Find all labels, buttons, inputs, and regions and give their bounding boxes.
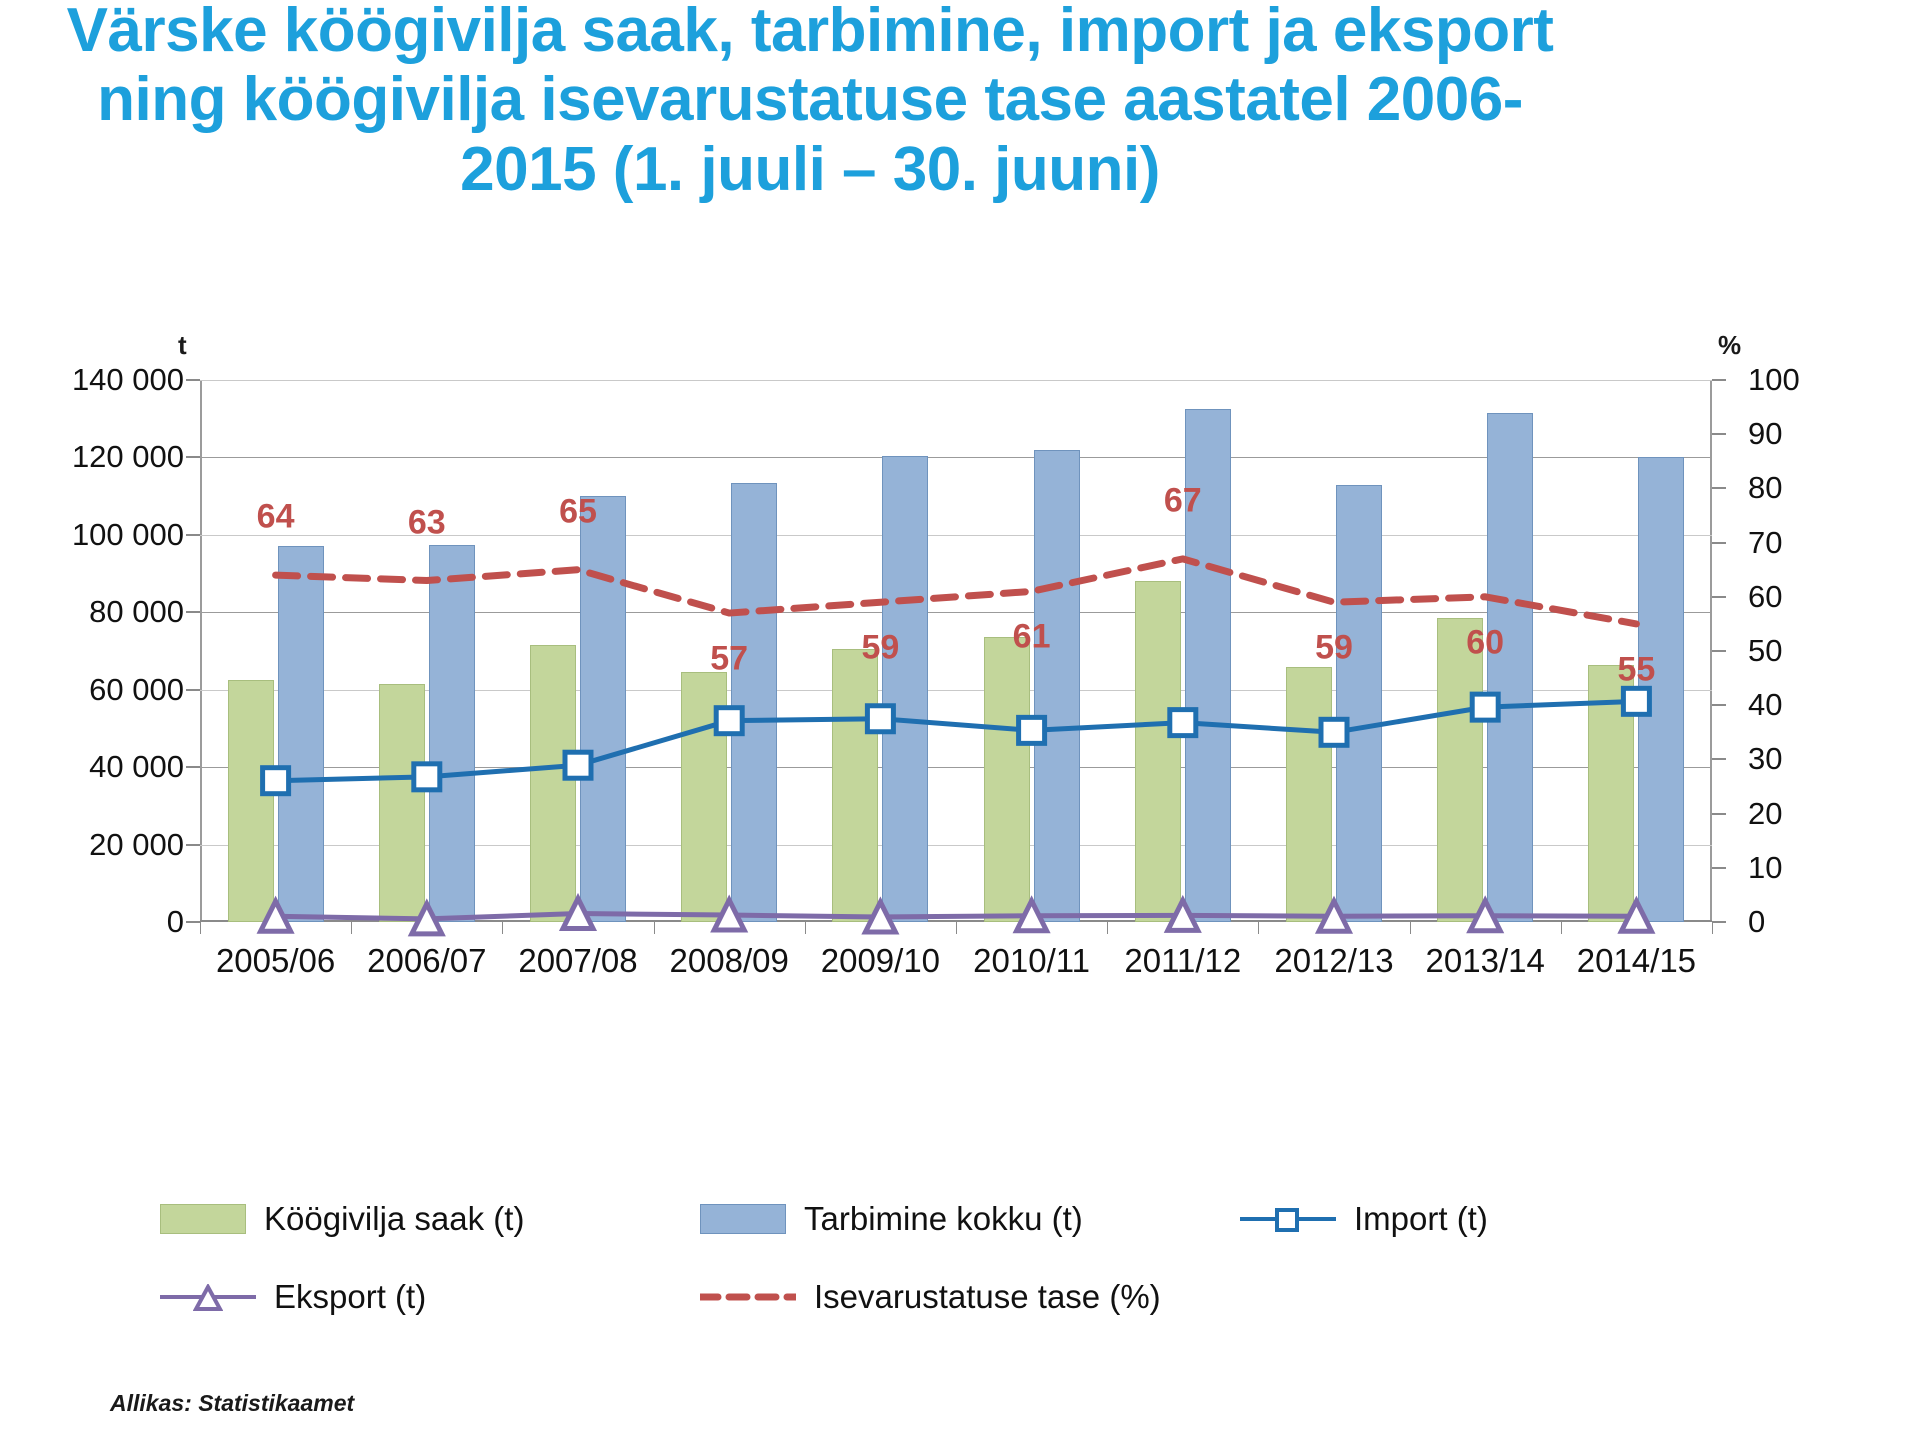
x-axis-label: 2005/06 xyxy=(216,942,335,980)
legend-line-key-isevarustatus xyxy=(700,1282,796,1312)
y-tick-mark-left xyxy=(186,844,200,846)
data-label-isevarustatuse-tase: 61 xyxy=(1013,618,1051,657)
y-tick-mark-left xyxy=(186,534,200,536)
y-tick-label-right: 80 xyxy=(1748,470,1782,506)
x-axis-label: 2011/12 xyxy=(1124,942,1241,980)
legend-item-eksport[interactable]: Eksport (t) xyxy=(160,1278,426,1316)
x-axis-label: 2014/15 xyxy=(1577,942,1696,980)
slide-root: Värske köögivilja saak, tarbimine, impor… xyxy=(0,0,1920,1450)
y-tick-label-right: 30 xyxy=(1748,741,1782,777)
plot-region: 64636557596167596055 xyxy=(200,380,1712,922)
legend-row: Eksport (t)Isevarustatuse tase (%) xyxy=(0,1278,1920,1338)
source-note: Allikas: Statistikaamet xyxy=(110,1390,354,1417)
y-tick-label-right: 40 xyxy=(1748,687,1782,723)
y-tick-mark-right xyxy=(1712,650,1726,652)
x-tick-mark xyxy=(805,922,806,934)
legend-swatch-tarbimine xyxy=(700,1204,786,1234)
x-tick-mark xyxy=(654,922,655,934)
y-tick-mark-right xyxy=(1712,921,1726,923)
line-isevarustatuse-tase[interactable] xyxy=(276,559,1637,624)
y-tick-label-left: 40 000 xyxy=(89,749,184,785)
legend-item-saak[interactable]: Köögivilja saak (t) xyxy=(160,1200,524,1238)
marker-import[interactable] xyxy=(716,708,742,734)
y-tick-label-right: 100 xyxy=(1748,362,1800,398)
x-tick-mark xyxy=(1561,922,1562,934)
marker-import[interactable] xyxy=(1623,688,1649,714)
legend-triangle-marker-icon xyxy=(193,1284,223,1312)
legend-item-tarbimine[interactable]: Tarbimine kokku (t) xyxy=(700,1200,1083,1238)
data-label-isevarustatuse-tase: 59 xyxy=(1315,629,1353,668)
legend-item-isevarustatus[interactable]: Isevarustatuse tase (%) xyxy=(700,1278,1161,1316)
y-tick-label-right: 0 xyxy=(1748,904,1765,940)
y-tick-label-left: 140 000 xyxy=(72,362,184,398)
legend-label: Tarbimine kokku (t) xyxy=(804,1200,1083,1238)
x-axis-label: 2006/07 xyxy=(367,942,486,980)
legend-item-import[interactable]: Import (t) xyxy=(1240,1200,1488,1238)
x-tick-mark xyxy=(1410,922,1411,934)
marker-import[interactable] xyxy=(1472,694,1498,720)
x-axis-label: 2012/13 xyxy=(1274,942,1393,980)
y-tick-label-right: 70 xyxy=(1748,525,1782,561)
data-label-isevarustatuse-tase: 64 xyxy=(257,498,295,537)
y-tick-mark-right xyxy=(1712,596,1726,598)
y-tick-label-right: 10 xyxy=(1748,850,1782,886)
y-tick-label-left: 100 000 xyxy=(72,517,184,553)
x-axis-label: 2010/11 xyxy=(973,942,1090,980)
y-tick-mark-left xyxy=(186,689,200,691)
legend-dashed-line-icon xyxy=(700,1282,796,1312)
marker-import[interactable] xyxy=(1019,717,1045,743)
y-tick-label-right: 20 xyxy=(1748,796,1782,832)
marker-import[interactable] xyxy=(1321,719,1347,745)
y-tick-mark-left xyxy=(186,611,200,613)
legend-label: Isevarustatuse tase (%) xyxy=(814,1278,1161,1316)
y-tick-mark-right xyxy=(1712,813,1726,815)
x-tick-mark xyxy=(200,922,201,934)
legend-label: Eksport (t) xyxy=(274,1278,426,1316)
x-axis-label: 2009/10 xyxy=(821,942,940,980)
y-tick-mark-left xyxy=(186,921,200,923)
y-tick-mark-right xyxy=(1712,704,1726,706)
y-axis-unit-left: t xyxy=(178,330,187,361)
legend-square-marker-icon xyxy=(1273,1206,1303,1234)
x-tick-mark xyxy=(956,922,957,934)
chart-area: t % 64636557596167596055 xyxy=(0,318,1920,1018)
y-tick-label-left: 0 xyxy=(167,904,184,940)
x-axis-label: 2013/14 xyxy=(1426,942,1545,980)
y-tick-label-left: 20 000 xyxy=(89,827,184,863)
data-label-isevarustatuse-tase: 59 xyxy=(861,629,899,668)
y-tick-mark-left xyxy=(186,456,200,458)
y-tick-mark-right xyxy=(1712,542,1726,544)
y-tick-label-right: 50 xyxy=(1748,633,1782,669)
y-tick-mark-left xyxy=(186,766,200,768)
marker-import[interactable] xyxy=(263,768,289,794)
y-tick-label-left: 60 000 xyxy=(89,672,184,708)
x-tick-mark xyxy=(1258,922,1259,934)
marker-import[interactable] xyxy=(867,706,893,732)
marker-import[interactable] xyxy=(565,752,591,778)
data-label-isevarustatuse-tase: 67 xyxy=(1164,481,1202,520)
y-tick-mark-right xyxy=(1712,758,1726,760)
legend-label: Import (t) xyxy=(1354,1200,1488,1238)
page-title: Värske köögivilja saak, tarbimine, impor… xyxy=(60,0,1560,204)
data-label-isevarustatuse-tase: 63 xyxy=(408,503,446,542)
y-tick-label-left: 80 000 xyxy=(89,594,184,630)
data-label-isevarustatuse-tase: 55 xyxy=(1617,650,1655,689)
x-tick-mark xyxy=(351,922,352,934)
x-tick-mark xyxy=(502,922,503,934)
y-tick-mark-right xyxy=(1712,487,1726,489)
data-label-isevarustatuse-tase: 65 xyxy=(559,492,597,531)
y-axis-unit-right: % xyxy=(1718,330,1741,361)
x-axis-label: 2008/09 xyxy=(670,942,789,980)
x-tick-mark xyxy=(1712,922,1713,934)
x-tick-mark xyxy=(1107,922,1108,934)
line-import[interactable] xyxy=(276,701,1637,780)
y-tick-label-left: 120 000 xyxy=(72,439,184,475)
data-label-isevarustatuse-tase: 57 xyxy=(710,640,748,679)
y-tick-mark-right xyxy=(1712,379,1726,381)
legend-line-key-import xyxy=(1240,1204,1336,1234)
y-tick-mark-right xyxy=(1712,867,1726,869)
legend-swatch-saak xyxy=(160,1204,246,1234)
line-eksport[interactable] xyxy=(276,913,1637,918)
y-tick-label-right: 90 xyxy=(1748,416,1782,452)
legend-label: Köögivilja saak (t) xyxy=(264,1200,524,1238)
legend-line-key-eksport xyxy=(160,1282,256,1312)
marker-import[interactable] xyxy=(414,764,440,790)
data-label-isevarustatuse-tase: 60 xyxy=(1466,623,1504,662)
marker-import[interactable] xyxy=(1170,710,1196,736)
y-tick-mark-left xyxy=(186,379,200,381)
y-tick-label-right: 60 xyxy=(1748,579,1782,615)
y-tick-mark-right xyxy=(1712,433,1726,435)
legend-row: Köögivilja saak (t)Tarbimine kokku (t)Im… xyxy=(0,1200,1920,1260)
x-axis-label: 2007/08 xyxy=(518,942,637,980)
